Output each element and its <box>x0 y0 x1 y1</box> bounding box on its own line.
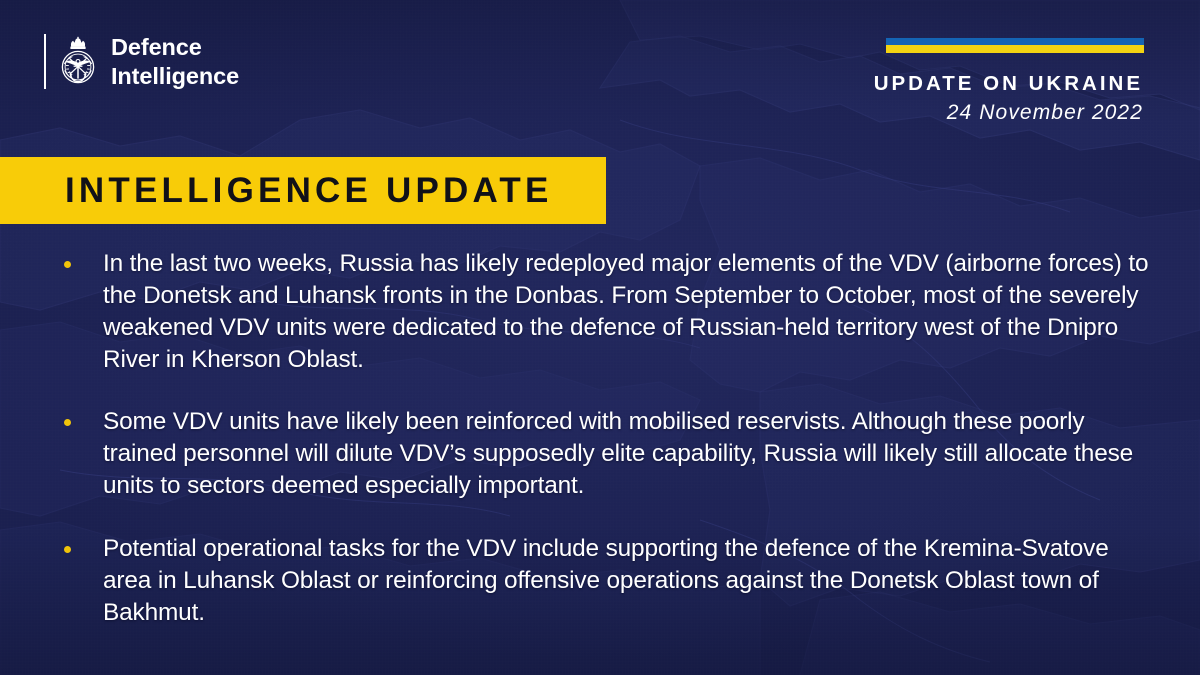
mod-tri-service-crest-icon <box>58 34 98 90</box>
defence-intelligence-logo: Defence Intelligence <box>44 33 239 91</box>
bullet-text: Potential operational tasks for the VDV … <box>103 533 1150 629</box>
bullet-dot-icon <box>64 546 71 553</box>
bullet-dot-icon <box>64 419 71 426</box>
flag-blue-stripe <box>886 38 1144 45</box>
logo-divider <box>44 34 46 89</box>
bullet-text: Some VDV units have likely been reinforc… <box>103 406 1150 502</box>
banner-title: INTELLIGENCE UPDATE <box>0 171 553 211</box>
brand-line-intelligence: Intelligence <box>111 62 239 91</box>
bullet-text: In the last two weeks, Russia has likely… <box>103 248 1150 375</box>
update-date: 24 November 2022 <box>947 101 1143 125</box>
bullet-dot-icon <box>64 261 71 268</box>
list-item: Some VDV units have likely been reinforc… <box>0 406 1150 502</box>
list-item: Potential operational tasks for the VDV … <box>0 533 1150 629</box>
intelligence-update-graphic: Defence Intelligence UPDATE ON UKRAINE 2… <box>0 0 1200 675</box>
brand-name: Defence Intelligence <box>111 33 239 91</box>
update-on-ukraine-label: UPDATE ON UKRAINE <box>874 72 1143 96</box>
brand-line-defence: Defence <box>111 33 239 62</box>
bullet-list: In the last two weeks, Russia has likely… <box>0 248 1150 628</box>
header: Defence Intelligence UPDATE ON UKRAINE 2… <box>0 0 1200 150</box>
flag-yellow-stripe <box>886 45 1144 53</box>
list-item: In the last two weeks, Russia has likely… <box>0 248 1150 375</box>
ukraine-flag-bar <box>886 38 1144 53</box>
intelligence-update-banner: INTELLIGENCE UPDATE <box>0 157 606 224</box>
